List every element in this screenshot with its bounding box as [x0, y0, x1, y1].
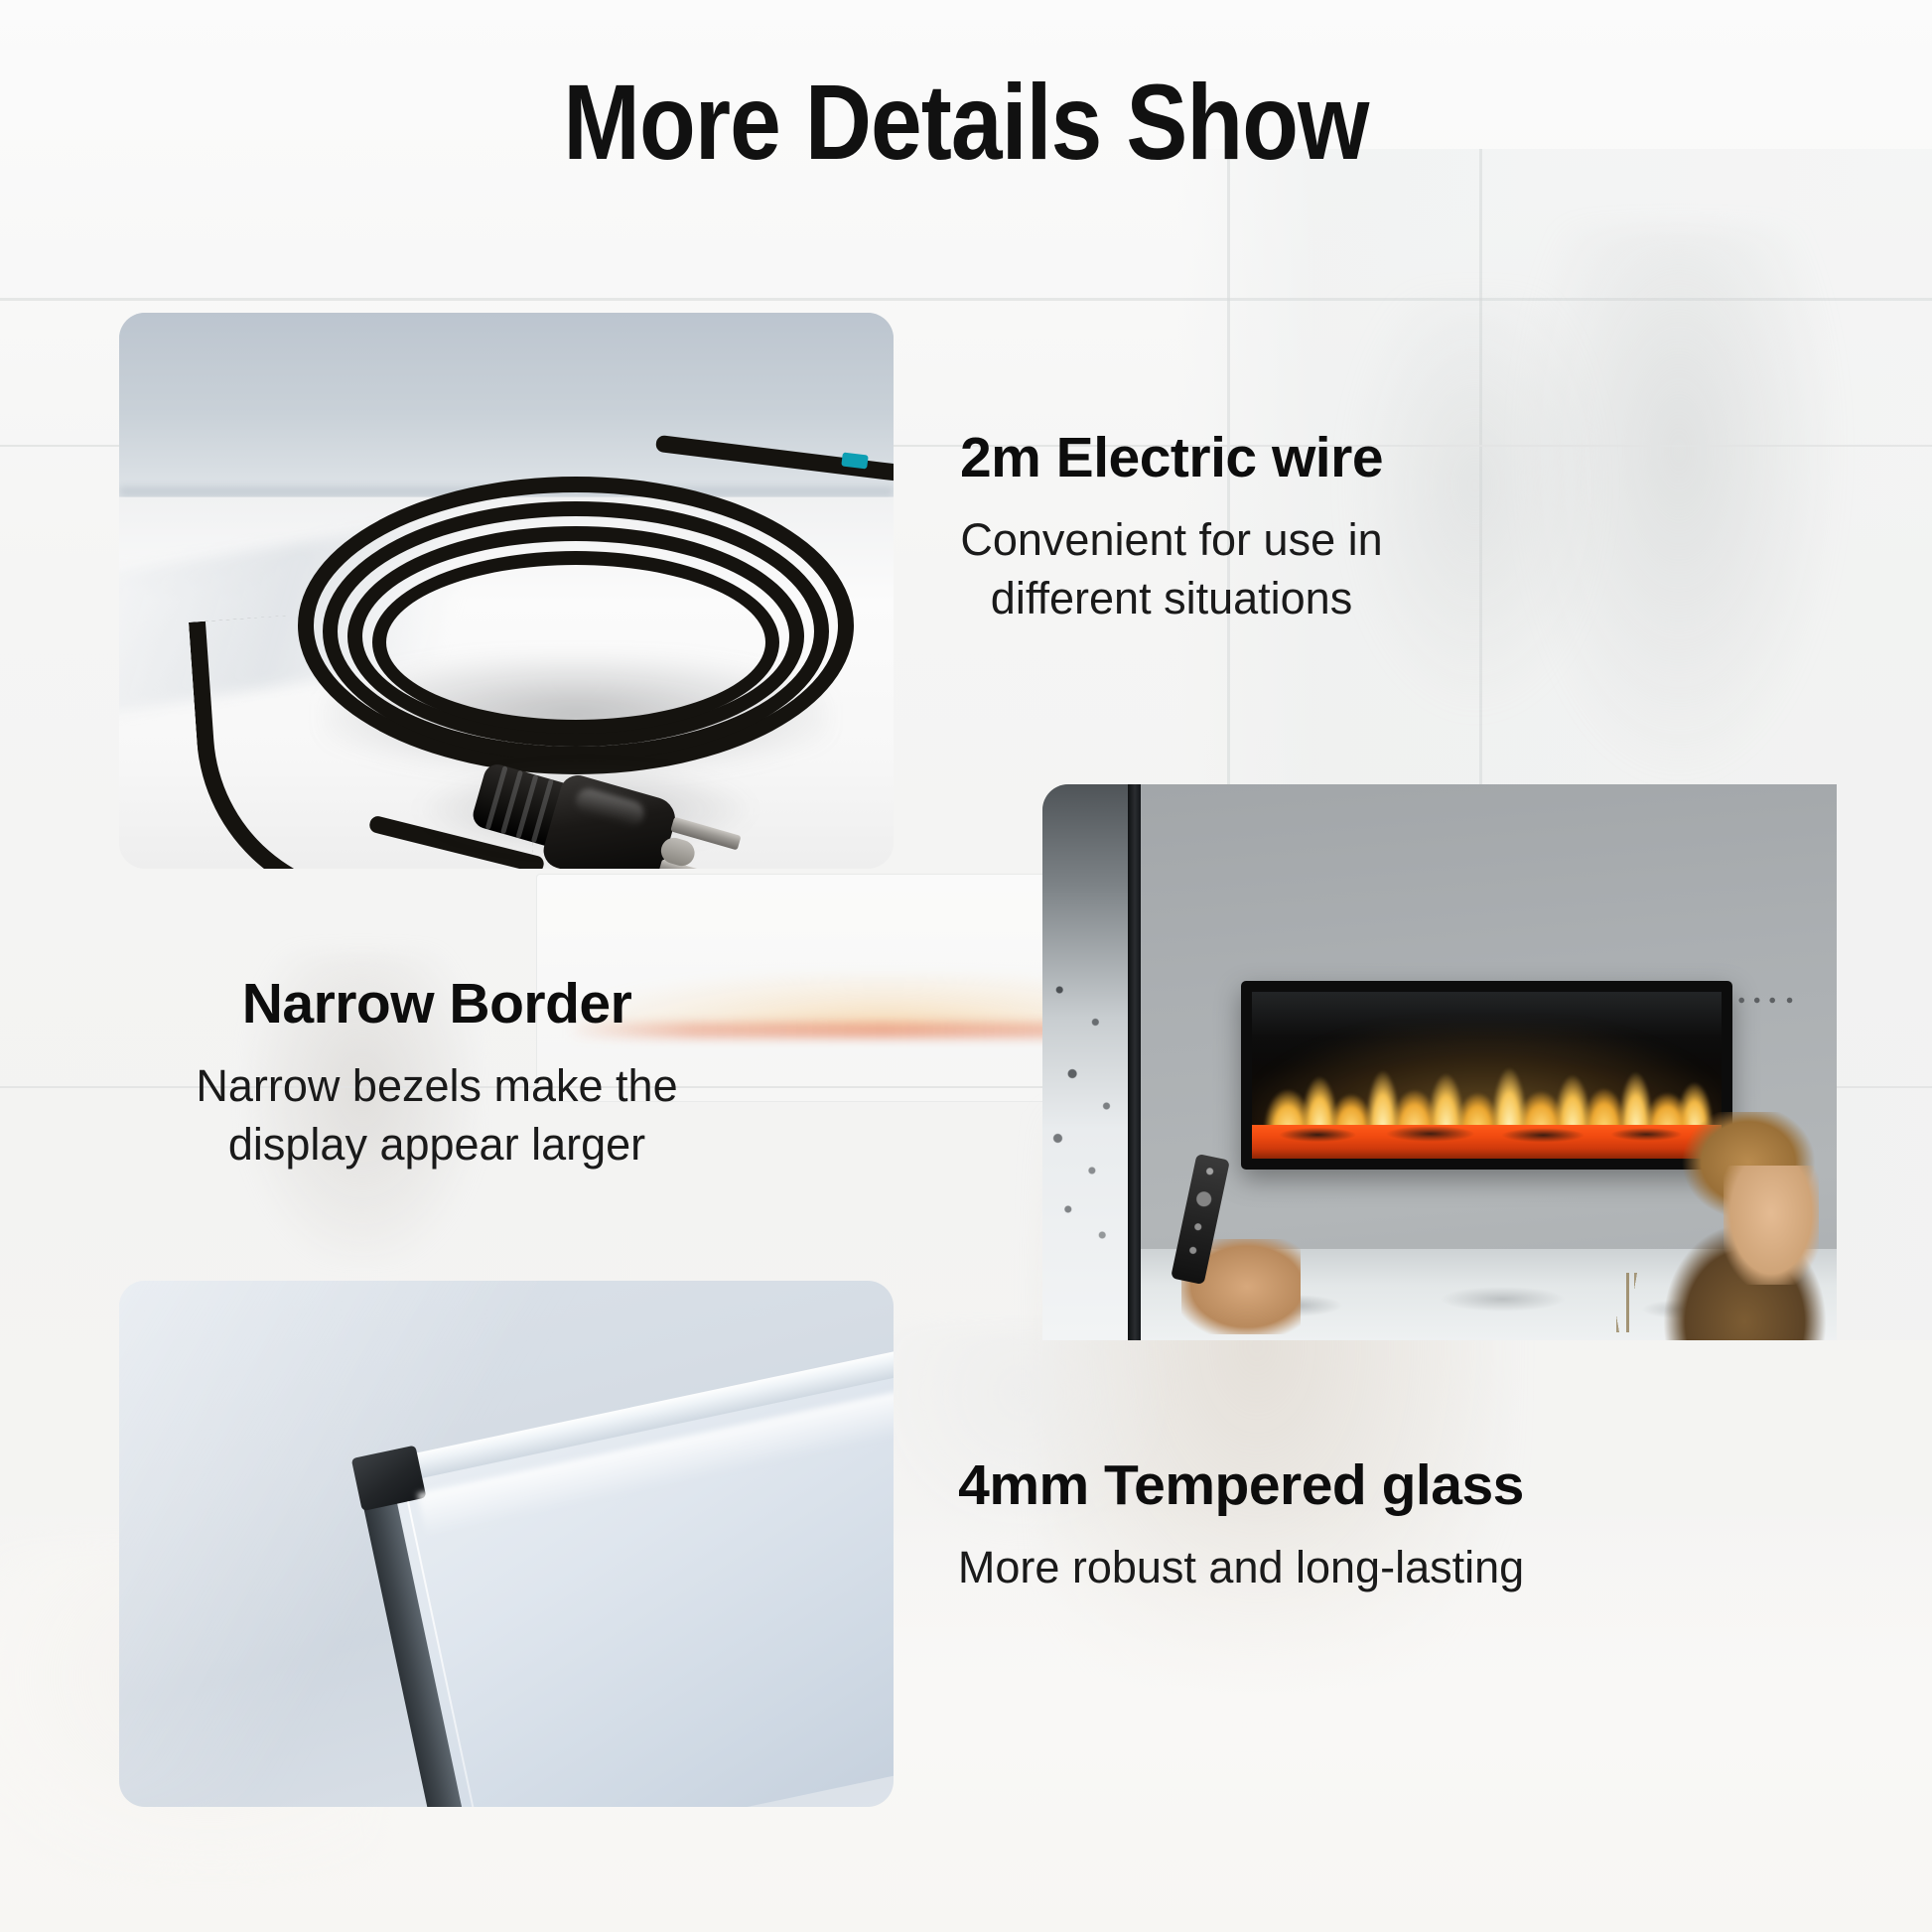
person-right-face [1724, 1166, 1819, 1285]
glass-reflection [1252, 992, 1722, 1068]
page-title: More Details Show [135, 60, 1797, 184]
narrow-border-heading: Narrow Border [79, 973, 794, 1036]
feature-narrow-border-text: Narrow Border Narrow bezels make the dis… [79, 973, 794, 1174]
window-frame [1128, 784, 1141, 1340]
electric-wire-subtitle-line1: Convenient for use in [814, 510, 1529, 569]
electric-wire-heading: 2m Electric wire [814, 427, 1529, 490]
feature-tempered-glass-text: 4mm Tempered glass More robust and long-… [804, 1454, 1678, 1596]
infographic-canvas: More Details Show 2m Elec [0, 0, 1932, 1932]
narrow-border-subtitle-line2: display appear larger [79, 1115, 794, 1173]
fireplace-control-panel [1735, 997, 1797, 1004]
tempered-glass-subtitle: More robust and long-lasting [804, 1538, 1678, 1596]
decor-plant [1608, 1273, 1654, 1332]
snowy-window-foliage [1042, 951, 1128, 1274]
narrow-border-subtitle: Narrow bezels make the display appear la… [79, 1056, 794, 1174]
tempered-glass-heading: 4mm Tempered glass [804, 1454, 1678, 1518]
ember-logs [1252, 1123, 1722, 1143]
background-tree-right [1515, 228, 1843, 784]
cord-photo-wall [119, 313, 894, 496]
power-cord-photo [119, 313, 894, 869]
glass-edge-photo [119, 1281, 894, 1807]
fireplace-in-room-photo [1042, 784, 1837, 1340]
tempered-glass-subtitle-line1: More robust and long-lasting [804, 1538, 1678, 1596]
electric-wire-subtitle: Convenient for use in different situatio… [814, 510, 1529, 628]
feature-electric-wire-text: 2m Electric wire Convenient for use in d… [814, 427, 1529, 628]
background-mullion-horizontal [0, 298, 1932, 301]
narrow-border-subtitle-line1: Narrow bezels make the [79, 1056, 794, 1115]
electric-wire-subtitle-line2: different situations [814, 569, 1529, 627]
